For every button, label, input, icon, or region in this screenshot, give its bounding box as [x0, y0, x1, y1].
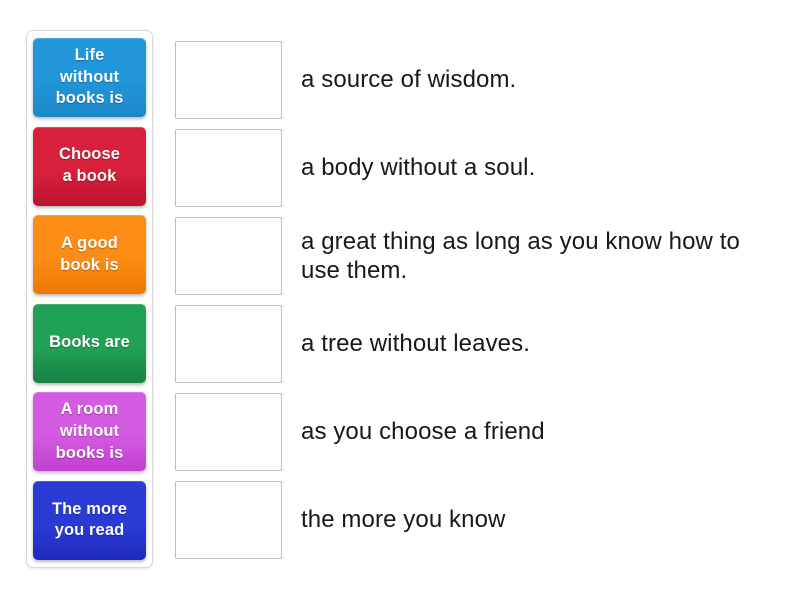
tile-life-without-books-is[interactable]: Lifewithoutbooks is [33, 38, 146, 117]
tile-label-line: book is [60, 255, 118, 277]
tile-label: Choosea book [59, 144, 120, 188]
tile-label: The moreyou read [52, 499, 127, 543]
tile-label-line: Books are [49, 332, 130, 354]
drop-zone[interactable] [175, 217, 282, 295]
row-a-great-thing-as-long-as-you-know-how-to-use-them: a great thing as long as you know how to… [175, 217, 785, 295]
answer-text: a tree without leaves. [282, 329, 785, 358]
match-up-activity: Lifewithoutbooks isChoosea bookA goodboo… [0, 0, 800, 600]
answer-text: a body without a soul. [282, 153, 785, 182]
row-as-you-choose-a-friend: as you choose a friend [175, 393, 785, 471]
tile-label: Lifewithoutbooks is [56, 45, 124, 110]
tile-label: A goodbook is [60, 233, 118, 277]
row-a-source-of-wisdom: a source of wisdom. [175, 41, 785, 119]
drop-zone[interactable] [175, 481, 282, 559]
tile-a-room-without-books-is[interactable]: A roomwithoutbooks is [33, 392, 146, 471]
tile-label-line: books is [56, 88, 124, 110]
tile-the-more-you-read[interactable]: The moreyou read [33, 481, 146, 560]
row-the-more-you-know: the more you know [175, 481, 785, 559]
tile-label-line: books is [56, 443, 124, 465]
tile-label-line: without [56, 67, 124, 89]
tile-label-line: The more [52, 499, 127, 521]
draggable-tile-tray: Lifewithoutbooks isChoosea bookA goodboo… [26, 30, 153, 568]
answer-text: as you choose a friend [282, 417, 785, 446]
answer-rows: a source of wisdom.a body without a soul… [175, 41, 785, 559]
row-a-body-without-a-soul: a body without a soul. [175, 129, 785, 207]
drop-zone[interactable] [175, 305, 282, 383]
tile-label-line: Choose [59, 144, 120, 166]
tile-a-good-book-is[interactable]: A goodbook is [33, 215, 146, 294]
tile-choose-a-book[interactable]: Choosea book [33, 127, 146, 206]
tile-label-line: Life [56, 45, 124, 67]
drop-zone[interactable] [175, 41, 282, 119]
drop-zone[interactable] [175, 129, 282, 207]
tile-label: A roomwithoutbooks is [56, 399, 124, 464]
answer-text: a source of wisdom. [282, 65, 785, 94]
row-a-tree-without-leaves: a tree without leaves. [175, 305, 785, 383]
tile-label: Books are [49, 332, 130, 354]
tile-books-are[interactable]: Books are [33, 304, 146, 383]
answer-text: the more you know [282, 505, 785, 534]
drop-zone[interactable] [175, 393, 282, 471]
tile-label-line: a book [59, 166, 120, 188]
tile-label-line: without [56, 421, 124, 443]
tile-label-line: A room [56, 399, 124, 421]
tile-label-line: A good [60, 233, 118, 255]
answer-text: a great thing as long as you know how to… [282, 227, 785, 286]
tile-label-line: you read [52, 520, 127, 542]
